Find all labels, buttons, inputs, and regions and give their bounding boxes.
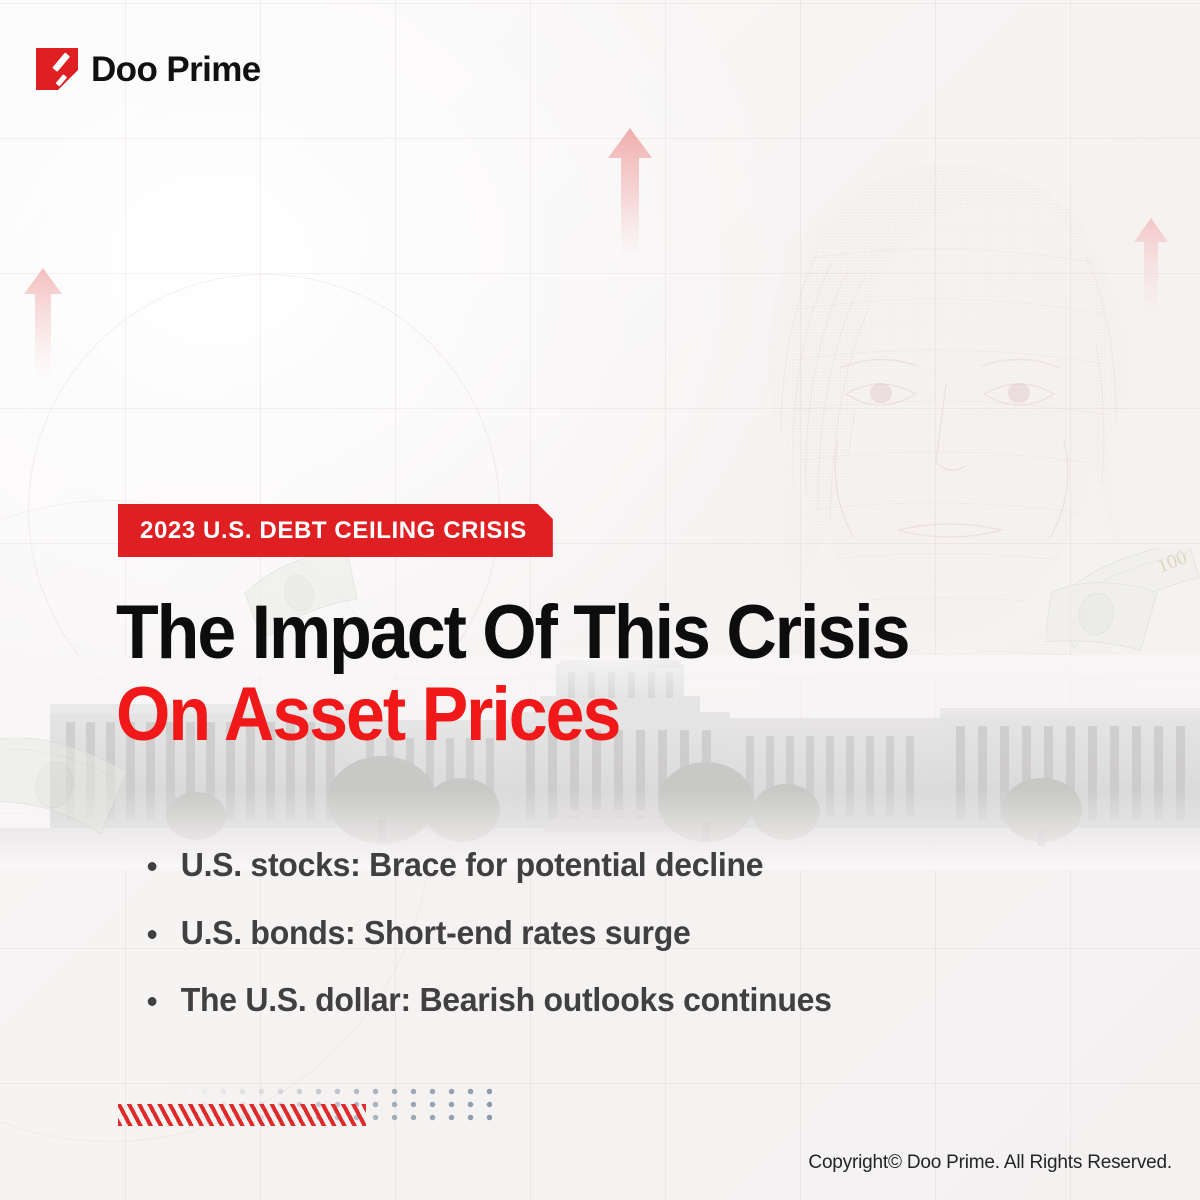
brand-logo[interactable]: Doo Prime xyxy=(36,48,261,90)
up-arrow-left-icon xyxy=(24,268,62,380)
up-arrow-right-icon xyxy=(1134,218,1168,318)
copyright-text: Copyright© Doo Prime. All Rights Reserve… xyxy=(808,1152,1172,1174)
brand-name: Doo Prime xyxy=(91,52,261,87)
category-badge: 2023 U.S. DEBT CEILING CRISIS xyxy=(118,504,553,557)
key-points-list: U.S. stocks: Brace for potential decline… xyxy=(140,845,1120,1048)
headline-line-1: The Impact Of This Crisis xyxy=(116,592,1036,674)
list-item: U.S. stocks: Brace for potential decline xyxy=(140,845,1091,885)
up-arrow-center-icon xyxy=(608,128,652,256)
list-item: The U.S. dollar: Bearish outlooks contin… xyxy=(140,980,1091,1020)
category-badge-label: 2023 U.S. DEBT CEILING CRISIS xyxy=(140,517,527,545)
headline-line-2: On Asset Prices xyxy=(116,674,1036,756)
doo-prime-mark-icon xyxy=(36,48,78,90)
list-item: U.S. bonds: Short-end rates surge xyxy=(140,913,1091,953)
page-title: The Impact Of This Crisis On Asset Price… xyxy=(116,592,1116,756)
poster-canvas: 100 Doo Prime 2023 U.S. DEBT CEILING xyxy=(0,0,1200,1200)
diagonal-stripe-bar-decoration xyxy=(118,1104,366,1126)
